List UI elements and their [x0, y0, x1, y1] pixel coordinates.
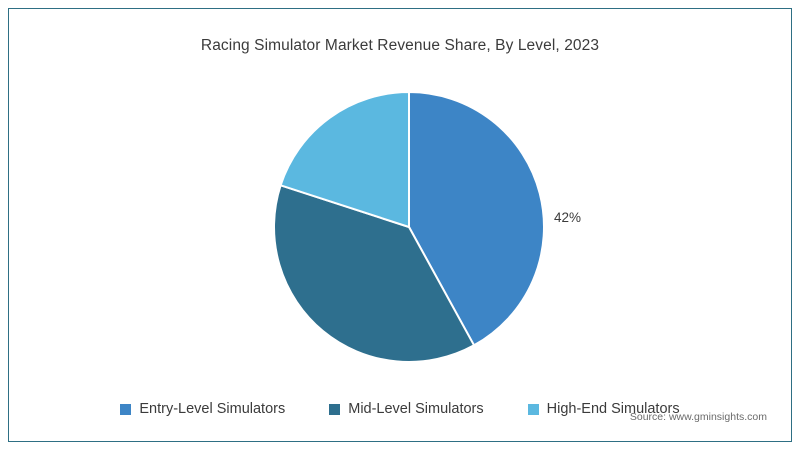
legend-swatch-icon	[329, 404, 340, 415]
legend-swatch-icon	[528, 404, 539, 415]
page-title: Racing Simulator Market Revenue Share, B…	[9, 37, 791, 55]
legend-swatch-icon	[120, 404, 131, 415]
chart-card: Racing Simulator Market Revenue Share, B…	[8, 8, 792, 442]
legend-item-entry-level[interactable]: Entry-Level Simulators	[120, 401, 285, 417]
source-credit: Source: www.gminsights.com	[630, 411, 767, 423]
legend-item-label: Entry-Level Simulators	[139, 401, 285, 417]
legend-item-label: Mid-Level Simulators	[348, 401, 483, 417]
legend-item-mid-level[interactable]: Mid-Level Simulators	[329, 401, 483, 417]
pie-chart-svg	[271, 89, 547, 365]
slice-data-label: 42%	[554, 210, 581, 225]
pie-chart	[271, 89, 547, 365]
